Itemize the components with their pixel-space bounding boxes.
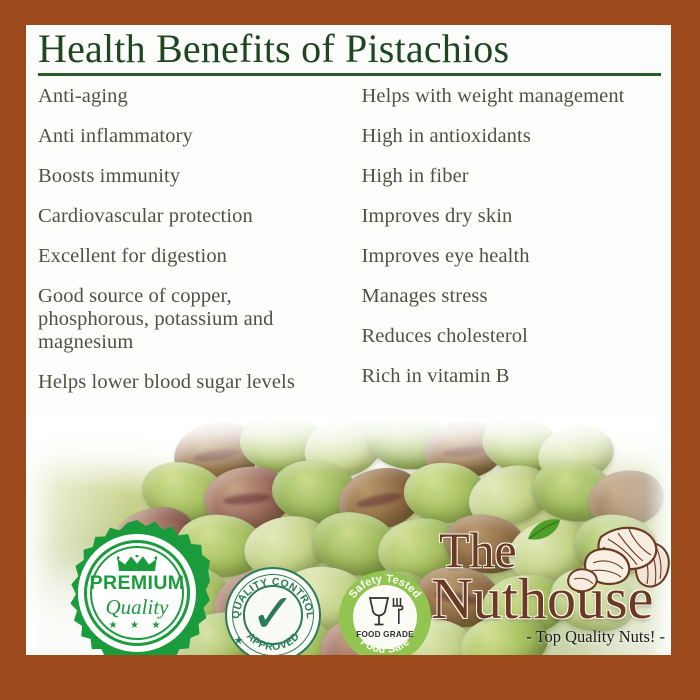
list-item: Anti inflammatory bbox=[38, 125, 340, 148]
page-title: Health Benefits of Pistachios bbox=[38, 27, 663, 70]
quality-control-approved-badge: QUALITY CONTROL APPROVED ✓ ★ bbox=[225, 567, 321, 655]
title-underline-rule bbox=[38, 73, 661, 76]
quality-label: Quality bbox=[106, 596, 169, 618]
list-item: Cardiovascular protection bbox=[38, 205, 340, 228]
stars-icon: ★ ★ ★ bbox=[109, 621, 166, 631]
list-item: Rich in vitamin B bbox=[362, 365, 664, 388]
star-icon: ★ bbox=[234, 636, 244, 647]
benefits-columns: Anti-aging Anti inflammatory Boosts immu… bbox=[38, 85, 663, 411]
leaf-icon bbox=[527, 519, 561, 541]
list-item: Improves eye health bbox=[362, 245, 664, 268]
list-item: Boosts immunity bbox=[38, 165, 340, 188]
premium-quality-badge: PREMIUM Quality ★ ★ ★ bbox=[64, 520, 210, 655]
list-item: High in fiber bbox=[362, 165, 664, 188]
title-block: Health Benefits of Pistachios bbox=[38, 27, 663, 76]
list-item: Reduces cholesterol bbox=[362, 325, 664, 348]
badge-inner-disc: FOOD GRADE bbox=[353, 585, 417, 649]
list-item: Improves dry skin bbox=[362, 205, 664, 228]
badge-inner-ring: PREMIUM Quality ★ ★ ★ bbox=[90, 546, 183, 639]
food-grade-label: FOOD GRADE bbox=[356, 630, 414, 639]
pistachio-photo: PREMIUM Quality ★ ★ ★ QUALITY CONTROL bbox=[26, 417, 671, 655]
list-item: Manages stress bbox=[362, 285, 664, 308]
crown-icon bbox=[117, 555, 157, 572]
list-item: High in antioxidants bbox=[362, 125, 664, 148]
poster-card: Health Benefits of Pistachios Anti-aging… bbox=[26, 25, 671, 655]
cashew-walnut-almond-icon bbox=[563, 521, 671, 601]
poster: Health Benefits of Pistachios Anti-aging… bbox=[0, 0, 700, 700]
glass-and-fork-icon bbox=[366, 596, 404, 629]
benefits-left-column: Anti-aging Anti inflammatory Boosts immu… bbox=[38, 85, 340, 411]
benefits-right-column: Helps with weight management High in ant… bbox=[362, 85, 664, 411]
list-item: Anti-aging bbox=[38, 85, 340, 108]
list-item: Helps lower blood sugar levels bbox=[38, 371, 340, 394]
list-item: Good source of copper, phosphorous, pota… bbox=[38, 285, 340, 354]
list-item: Excellent for digestion bbox=[38, 245, 340, 268]
nuthouse-logo: The Nuthouse - Top Quality Nuts! - bbox=[431, 527, 671, 652]
food-safe-badge: Safety Tested Food Safe bbox=[339, 571, 431, 655]
checkmark-icon: ✓ bbox=[250, 587, 295, 641]
premium-label: PREMIUM bbox=[90, 574, 185, 594]
list-item: Helps with weight management bbox=[362, 85, 664, 108]
